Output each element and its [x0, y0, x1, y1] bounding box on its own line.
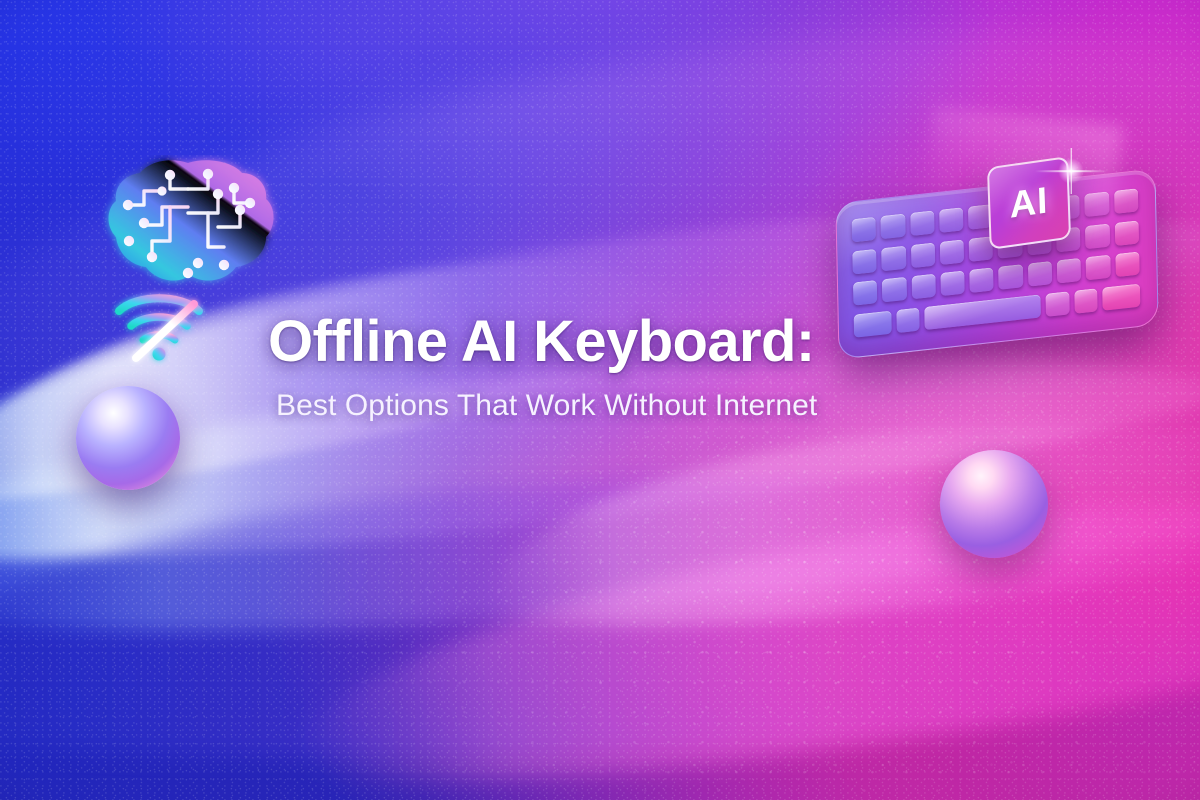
decorative-sphere-left — [76, 386, 180, 490]
keyboard-key — [969, 268, 994, 294]
decorative-sphere-right — [940, 450, 1048, 558]
page-subtitle: Best Options That Work Without Internet — [276, 389, 928, 422]
keyboard-key — [1074, 288, 1098, 314]
wifi-off-icon — [110, 278, 218, 370]
keyboard-key — [1114, 188, 1139, 214]
keyboard-key — [1115, 252, 1140, 278]
ai-keycap-label: AI — [1009, 179, 1049, 227]
keyboard-key-modifier — [1103, 284, 1141, 311]
keyboard-key — [853, 280, 878, 306]
keyboard-key — [940, 271, 965, 297]
keyboard-key — [911, 274, 936, 300]
keyboard-key — [1114, 220, 1139, 246]
keyboard-key — [881, 214, 906, 240]
banner-image: AI Offline AI Keyboard: Best Options Tha… — [0, 0, 1200, 800]
sparkle-icon — [1058, 158, 1084, 184]
circuit-brain-icon — [100, 155, 280, 295]
keyboard-key — [999, 264, 1024, 290]
headline-block: Offline AI Keyboard: Best Options That W… — [268, 312, 928, 422]
keyboard-key — [852, 217, 877, 243]
keyboard-key — [1046, 291, 1070, 317]
keyboard-key — [881, 245, 906, 271]
keyboard-key — [882, 277, 907, 303]
page-title: Offline AI Keyboard: — [268, 312, 928, 373]
keyboard-key — [852, 248, 877, 274]
